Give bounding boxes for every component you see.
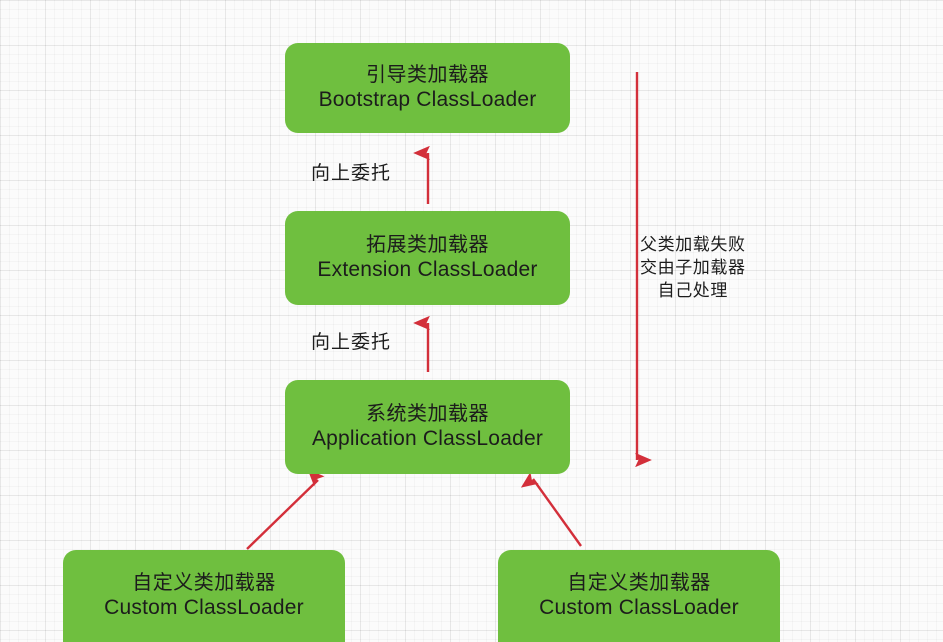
node-application-label-cn: 系统类加载器 [366,403,489,425]
diagram-canvas: 引导类加载器 Bootstrap ClassLoader 拓展类加载器 Exte… [0,0,943,642]
node-application-classloader[interactable]: 系统类加载器 Application ClassLoader [285,380,570,474]
node-bootstrap-classloader[interactable]: 引导类加载器 Bootstrap ClassLoader [285,43,570,133]
node-extension-label-en: Extension ClassLoader [317,258,537,282]
arrow-custom-left-to-application [247,480,318,549]
side-note-line-1: 父类加载失败 [640,234,746,257]
edge-label-delegate-up-upper: 向上委托 [311,158,391,185]
node-bootstrap-label-cn: 引导类加载器 [366,64,489,86]
node-custom-classloader-right[interactable]: 自定义类加载器 Custom ClassLoader [498,550,780,642]
side-note-line-3: 自己处理 [640,280,746,303]
node-custom-right-label-cn: 自定义类加载器 [567,572,711,594]
node-application-label-en: Application ClassLoader [312,427,543,451]
side-note-line-2: 交由子加载器 [640,257,746,280]
edge-label-delegate-up-lower: 向上委托 [311,327,391,354]
arrow-custom-right-to-application [533,479,581,546]
node-extension-classloader[interactable]: 拓展类加载器 Extension ClassLoader [285,211,570,305]
node-extension-label-cn: 拓展类加载器 [366,234,489,256]
node-custom-left-label-cn: 自定义类加载器 [132,572,276,594]
node-bootstrap-label-en: Bootstrap ClassLoader [319,88,537,112]
node-custom-left-label-en: Custom ClassLoader [104,596,304,620]
node-custom-right-label-en: Custom ClassLoader [539,596,739,620]
side-note-fallback: 父类加载失败 交由子加载器 自己处理 [640,234,746,303]
node-custom-classloader-left[interactable]: 自定义类加载器 Custom ClassLoader [63,550,345,642]
